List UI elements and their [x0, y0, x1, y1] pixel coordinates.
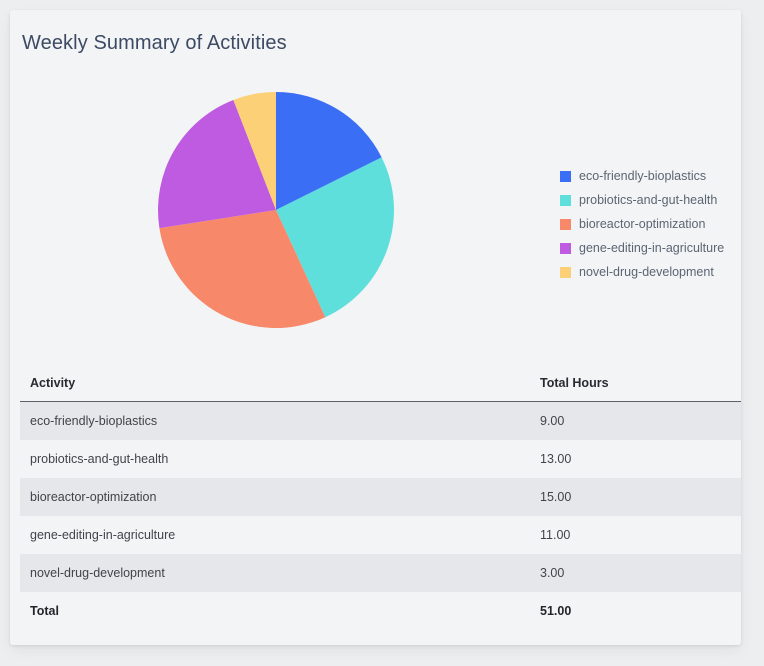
table-row: novel-drug-development3.00 [20, 554, 741, 592]
pie-slice-group [158, 92, 394, 328]
cell-total-hours: 3.00 [530, 554, 741, 592]
legend-color-swatch [560, 171, 571, 182]
table-row: eco-friendly-bioplastics9.00 [20, 402, 741, 441]
legend-item[interactable]: eco-friendly-bioplastics [560, 164, 724, 188]
pie-chart-region: eco-friendly-bioplasticsprobiotics-and-g… [10, 82, 741, 360]
summary-card: Weekly Summary of Activities eco-friendl… [10, 10, 741, 645]
legend-item-label: gene-editing-in-agriculture [579, 241, 724, 255]
legend-item-label: novel-drug-development [579, 265, 714, 279]
legend-item-label: bioreactor-optimization [579, 217, 705, 231]
column-header-total-hours: Total Hours [530, 370, 741, 402]
cell-total-hours: 15.00 [530, 478, 741, 516]
summary-table-wrap: Activity Total Hours eco-friendly-biopla… [20, 370, 727, 630]
legend-item[interactable]: gene-editing-in-agriculture [560, 236, 724, 260]
page-title: Weekly Summary of Activities [22, 32, 287, 55]
column-header-activity: Activity [20, 370, 530, 402]
pie-chart-svg [158, 92, 394, 328]
cell-activity: novel-drug-development [20, 554, 530, 592]
legend-item-label: eco-friendly-bioplastics [579, 169, 706, 183]
table-body: eco-friendly-bioplastics9.00probiotics-a… [20, 402, 741, 631]
legend-item[interactable]: probiotics-and-gut-health [560, 188, 724, 212]
legend-item[interactable]: novel-drug-development [560, 260, 724, 284]
cell-activity: probiotics-and-gut-health [20, 440, 530, 478]
table-row: probiotics-and-gut-health13.00 [20, 440, 741, 478]
cell-total-hours: 13.00 [530, 440, 741, 478]
legend-color-swatch [560, 267, 571, 278]
table-row: gene-editing-in-agriculture11.00 [20, 516, 741, 554]
table-row: bioreactor-optimization15.00 [20, 478, 741, 516]
cell-total-hours: 11.00 [530, 516, 741, 554]
pie-chart [158, 92, 394, 328]
cell-total-hours-value: 51.00 [530, 592, 741, 630]
legend-color-swatch [560, 219, 571, 230]
legend-item-label: probiotics-and-gut-health [579, 193, 717, 207]
table-header-row: Activity Total Hours [20, 370, 741, 402]
table-header: Activity Total Hours [20, 370, 741, 402]
summary-table: Activity Total Hours eco-friendly-biopla… [20, 370, 741, 630]
cell-total-label: Total [20, 592, 530, 630]
table-total-row: Total51.00 [20, 592, 741, 630]
legend-color-swatch [560, 195, 571, 206]
legend-color-swatch [560, 243, 571, 254]
legend-item[interactable]: bioreactor-optimization [560, 212, 724, 236]
chart-legend: eco-friendly-bioplasticsprobiotics-and-g… [560, 164, 724, 284]
cell-total-hours: 9.00 [530, 402, 741, 441]
cell-activity: eco-friendly-bioplastics [20, 402, 530, 441]
cell-activity: gene-editing-in-agriculture [20, 516, 530, 554]
cell-activity: bioreactor-optimization [20, 478, 530, 516]
